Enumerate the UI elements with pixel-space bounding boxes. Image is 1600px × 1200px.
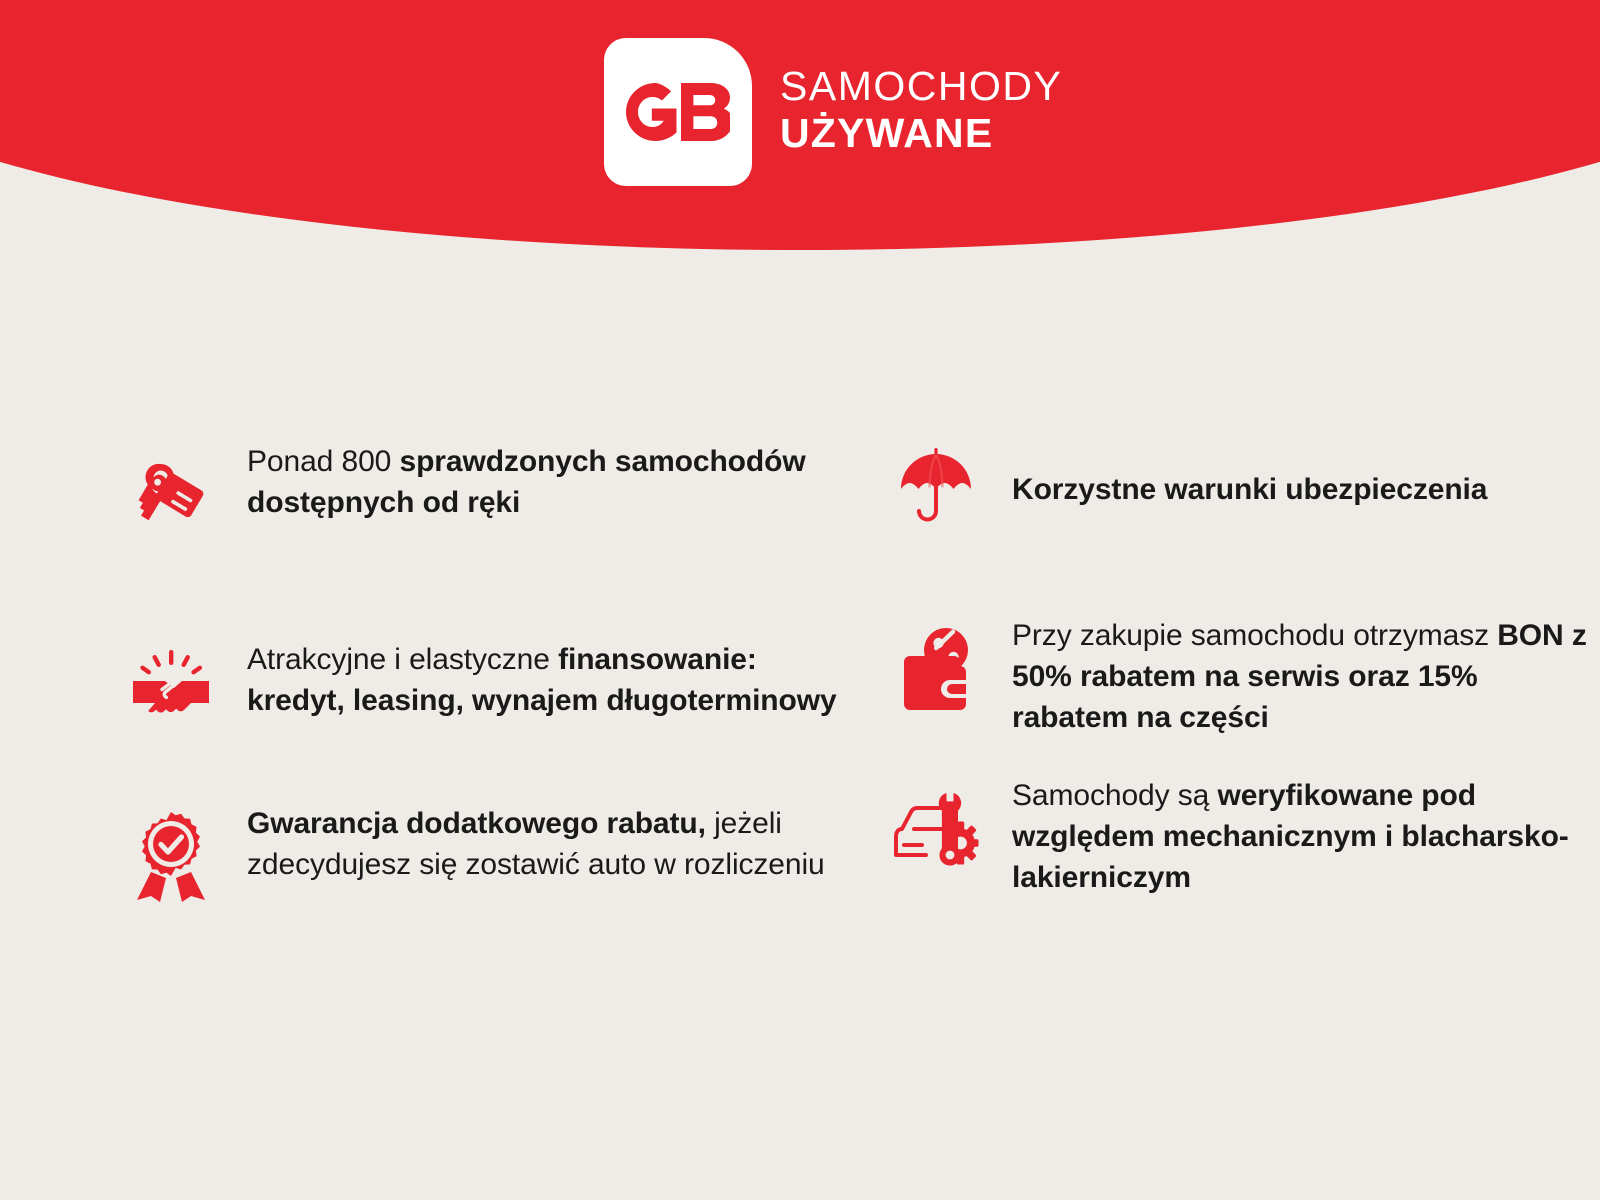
feature-text: Samochody są weryfikowane pod względem m…	[1012, 774, 1595, 898]
wallet-percent-icon	[890, 624, 982, 716]
car-service-icon	[890, 782, 982, 874]
promo-page: SAMOCHODY UŻYWANE	[0, 0, 1600, 1200]
feature-text-regular: Atrakcyjne i elastyczne	[247, 643, 558, 676]
brand-wordmark: SAMOCHODY UŻYWANE	[780, 66, 1062, 158]
feature-text-bold: Gwarancja dodatkowego rabatu,	[247, 807, 706, 840]
feature-text: Korzystne warunki ubezpieczenia	[1012, 440, 1487, 511]
gb-logo-mark	[604, 38, 752, 186]
feature-item-keys: Ponad 800 sprawdzonych samochodów dostęp…	[125, 440, 840, 540]
feature-text: Gwarancja dodatkowego rabatu, jeżeli zde…	[247, 802, 840, 886]
brand-wordmark-line1: SAMOCHODY	[780, 66, 1062, 107]
feature-item-voucher: Przy zakupie samochodu otrzymasz BON z 5…	[890, 614, 1595, 738]
feature-text: Przy zakupie samochodu otrzymasz BON z 5…	[1012, 614, 1595, 738]
feature-text-regular: Ponad 800	[247, 445, 399, 478]
feature-item-guarantee: Gwarancja dodatkowego rabatu, jeżeli zde…	[125, 802, 840, 902]
brand-wordmark-line2: UŻYWANE	[780, 113, 1062, 154]
feature-text-regular: Samochody są	[1012, 779, 1217, 812]
feature-column-left: Ponad 800 sprawdzonych samochodów dostęp…	[125, 440, 840, 902]
handshake-icon	[125, 642, 217, 734]
gb-monogram-icon	[626, 83, 730, 141]
brand-logo-lockup: SAMOCHODY UŻYWANE	[604, 38, 1062, 186]
feature-text-regular: Przy zakupie samochodu otrzymasz	[1012, 619, 1497, 652]
feature-text: Ponad 800 sprawdzonych samochodów dostęp…	[247, 440, 840, 524]
feature-item-verification: Samochody są weryfikowane pod względem m…	[890, 774, 1595, 898]
feature-grid: Ponad 800 sprawdzonych samochodów dostęp…	[0, 440, 1600, 902]
umbrella-icon	[890, 440, 982, 532]
feature-text-bold: Korzystne warunki ubezpieczenia	[1012, 473, 1487, 506]
feature-column-right: Korzystne warunki ubezpieczenia	[880, 440, 1595, 899]
feature-text: Atrakcyjne i elastyczne finansowanie: kr…	[247, 638, 840, 722]
feature-item-insurance: Korzystne warunki ubezpieczenia	[890, 440, 1595, 532]
feature-item-financing: Atrakcyjne i elastyczne finansowanie: kr…	[125, 638, 840, 734]
car-keys-icon	[125, 448, 217, 540]
award-rosette-icon	[125, 810, 217, 902]
